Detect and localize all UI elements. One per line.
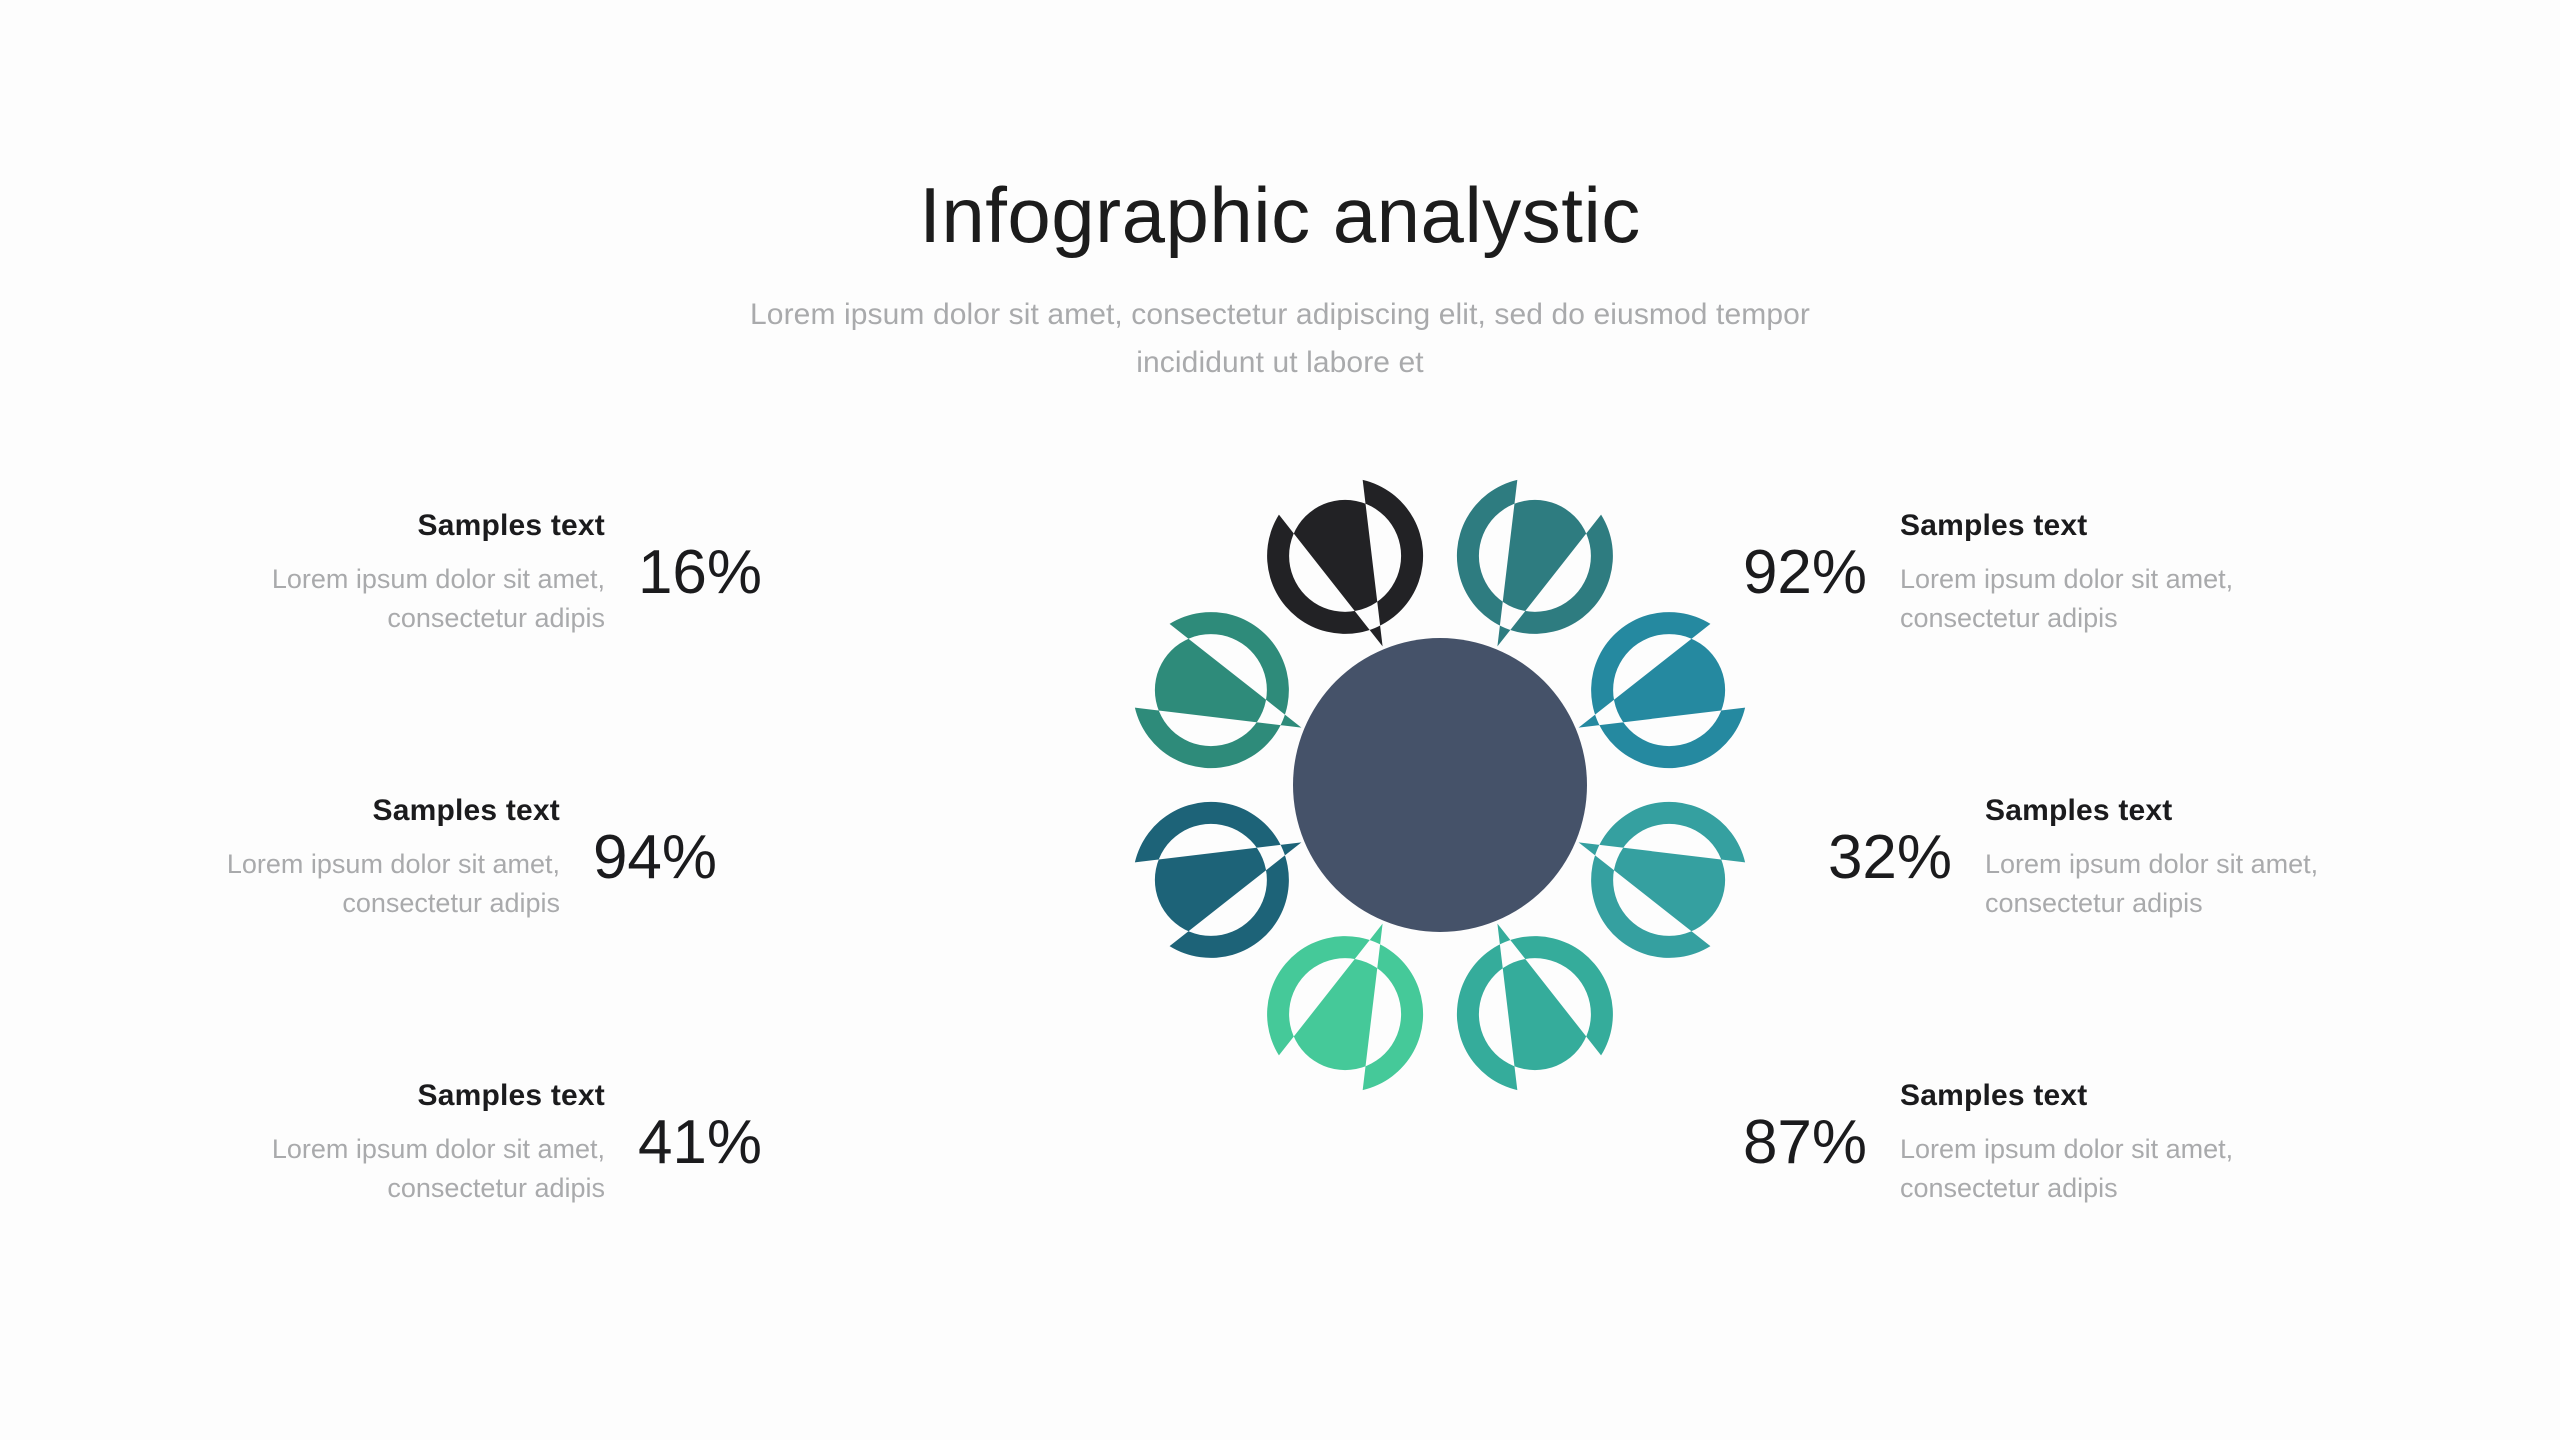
stat-title: Samples text <box>175 508 605 544</box>
stat-title: Samples text <box>1900 1078 2330 1114</box>
infographic-canvas: Infographic analystic Lorem ipsum dolor … <box>0 0 2560 1440</box>
stat-item-left-1[interactable]: Samples text Lorem ipsum dolor sit amet,… <box>175 508 795 638</box>
stat-description: Lorem ipsum dolor sit amet, consectetur … <box>1900 560 2330 638</box>
page-subtitle: Lorem ipsum dolor sit amet, consectetur … <box>715 291 1845 388</box>
stat-text-block: Samples text Lorem ipsum dolor sit amet,… <box>130 793 560 923</box>
stat-description: Lorem ipsum dolor sit amet, consectetur … <box>175 1130 605 1208</box>
stat-percent: 32% <box>1795 827 1985 889</box>
stat-item-left-2[interactable]: Samples text Lorem ipsum dolor sit amet,… <box>130 793 750 923</box>
stat-text-block: Samples text Lorem ipsum dolor sit amet,… <box>1900 508 2330 638</box>
stat-percent: 41% <box>605 1112 795 1174</box>
stat-item-left-3[interactable]: Samples text Lorem ipsum dolor sit amet,… <box>175 1078 795 1208</box>
stat-description: Lorem ipsum dolor sit amet, consectetur … <box>130 845 560 923</box>
stat-text-block: Samples text Lorem ipsum dolor sit amet,… <box>175 1078 605 1208</box>
stat-item-right-3[interactable]: 87% Samples text Lorem ipsum dolor sit a… <box>1710 1078 2330 1208</box>
stat-percent: 16% <box>605 542 795 604</box>
stat-percent: 94% <box>560 827 750 889</box>
stat-title: Samples text <box>1985 793 2415 829</box>
stat-text-block: Samples text Lorem ipsum dolor sit amet,… <box>1900 1078 2330 1208</box>
pinwheel-svg <box>1080 425 1800 1145</box>
stat-title: Samples text <box>130 793 560 829</box>
stat-description: Lorem ipsum dolor sit amet, consectetur … <box>1985 845 2415 923</box>
header: Infographic analystic Lorem ipsum dolor … <box>0 175 2560 388</box>
stat-item-right-2[interactable]: 32% Samples text Lorem ipsum dolor sit a… <box>1795 793 2415 923</box>
stat-title: Samples text <box>1900 508 2330 544</box>
stat-item-right-1[interactable]: 92% Samples text Lorem ipsum dolor sit a… <box>1710 508 2330 638</box>
stat-description: Lorem ipsum dolor sit amet, consectetur … <box>1900 1130 2330 1208</box>
page-title: Infographic analystic <box>0 175 2560 257</box>
pinwheel-diagram <box>1080 425 1800 1145</box>
center-circle <box>1293 638 1587 932</box>
stat-description: Lorem ipsum dolor sit amet, consectetur … <box>175 560 605 638</box>
stat-title: Samples text <box>175 1078 605 1114</box>
stat-text-block: Samples text Lorem ipsum dolor sit amet,… <box>175 508 605 638</box>
stat-text-block: Samples text Lorem ipsum dolor sit amet,… <box>1985 793 2415 923</box>
